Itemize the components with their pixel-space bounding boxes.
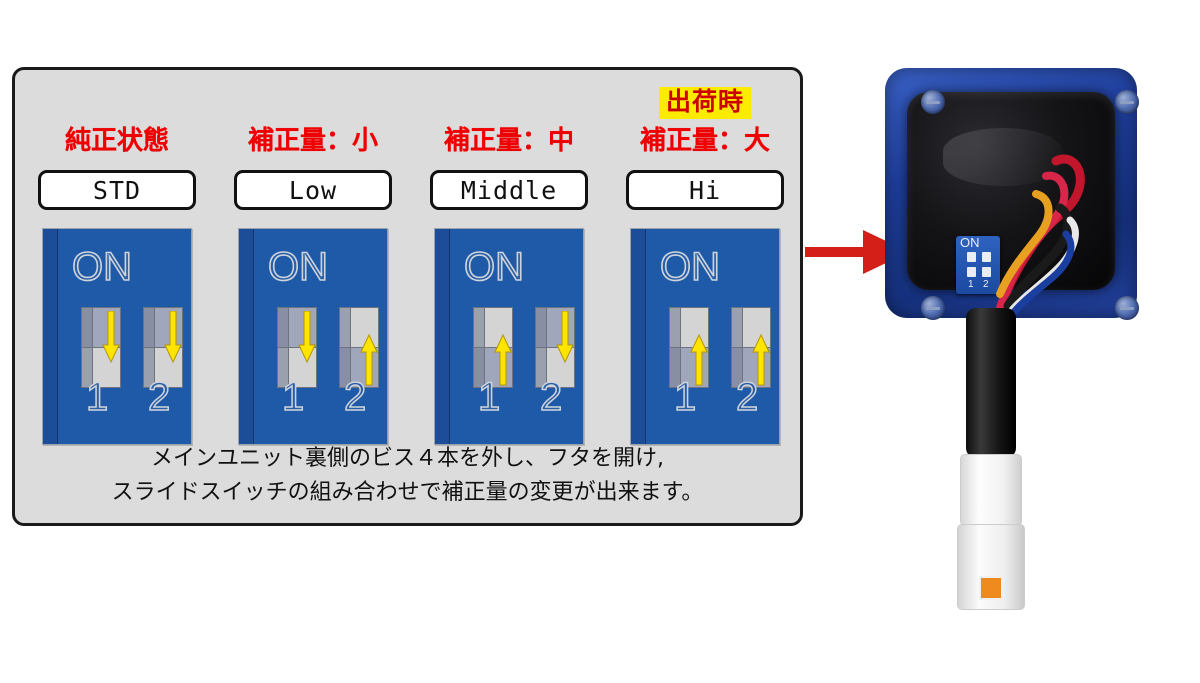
down-arrow-icon — [298, 311, 316, 363]
dip-switch-block: ON 1 2 — [238, 228, 388, 445]
dip-number-2: 2 — [540, 377, 562, 417]
dip-on-label: ON — [72, 247, 132, 287]
column-title: 補正量：大 — [610, 127, 800, 156]
mode-label-box: STD — [38, 170, 196, 210]
dip-on-label: ON — [268, 247, 328, 287]
mode-label-box: Middle — [430, 170, 588, 210]
down-arrow-icon — [102, 311, 120, 363]
dip-number-1: 1 — [282, 377, 304, 417]
dip-side-stripe — [239, 229, 254, 444]
down-arrow-icon — [556, 311, 574, 363]
dip-number-1: 1 — [674, 377, 696, 417]
dip-switch-block: ON 1 2 — [42, 228, 192, 445]
dip-side-stripe — [43, 229, 58, 444]
connector-latch — [979, 576, 1003, 600]
mode-label-box: Low — [234, 170, 392, 210]
instruction-line-2: スライドスイッチの組み合わせで補正量の変更が出来ます。 — [15, 476, 800, 509]
column-title: 補正量：中 — [414, 127, 604, 156]
down-arrow-icon — [164, 311, 182, 363]
instruction-text: メインユニット裏側のビス４本を外し、フタを開け, スライドスイッチの組み合わせで… — [15, 442, 800, 509]
dip-number-2: 2 — [148, 377, 170, 417]
dip-on-label: ON — [660, 247, 720, 287]
shipping-default-badge: 出荷時 — [659, 87, 751, 119]
dip-on-label: ON — [464, 247, 524, 287]
column-title: 補正量：小 — [218, 127, 408, 156]
dip-side-stripe — [631, 229, 646, 444]
dip-switch-diagram-panel: 純正状態 STD ON 1 2 補正量：小 — [12, 67, 803, 526]
dip-switch-block: ON 1 2 — [630, 228, 780, 445]
dip-switch-block: ON 1 2 — [434, 228, 584, 445]
product-photo: ON 1 2 — [860, 58, 1160, 658]
dip-number-2: 2 — [344, 377, 366, 417]
cable-sheath — [966, 308, 1016, 458]
dip-number-1: 1 — [478, 377, 500, 417]
dip-side-stripe — [435, 229, 450, 444]
connector-housing-upper — [960, 454, 1022, 526]
column-title: 純正状態 — [22, 127, 212, 156]
dip-number-2: 2 — [736, 377, 758, 417]
dip-number-1: 1 — [86, 377, 108, 417]
instruction-line-1: メインユニット裏側のビス４本を外し、フタを開け, — [15, 442, 800, 475]
mode-label-box: Hi — [626, 170, 784, 210]
